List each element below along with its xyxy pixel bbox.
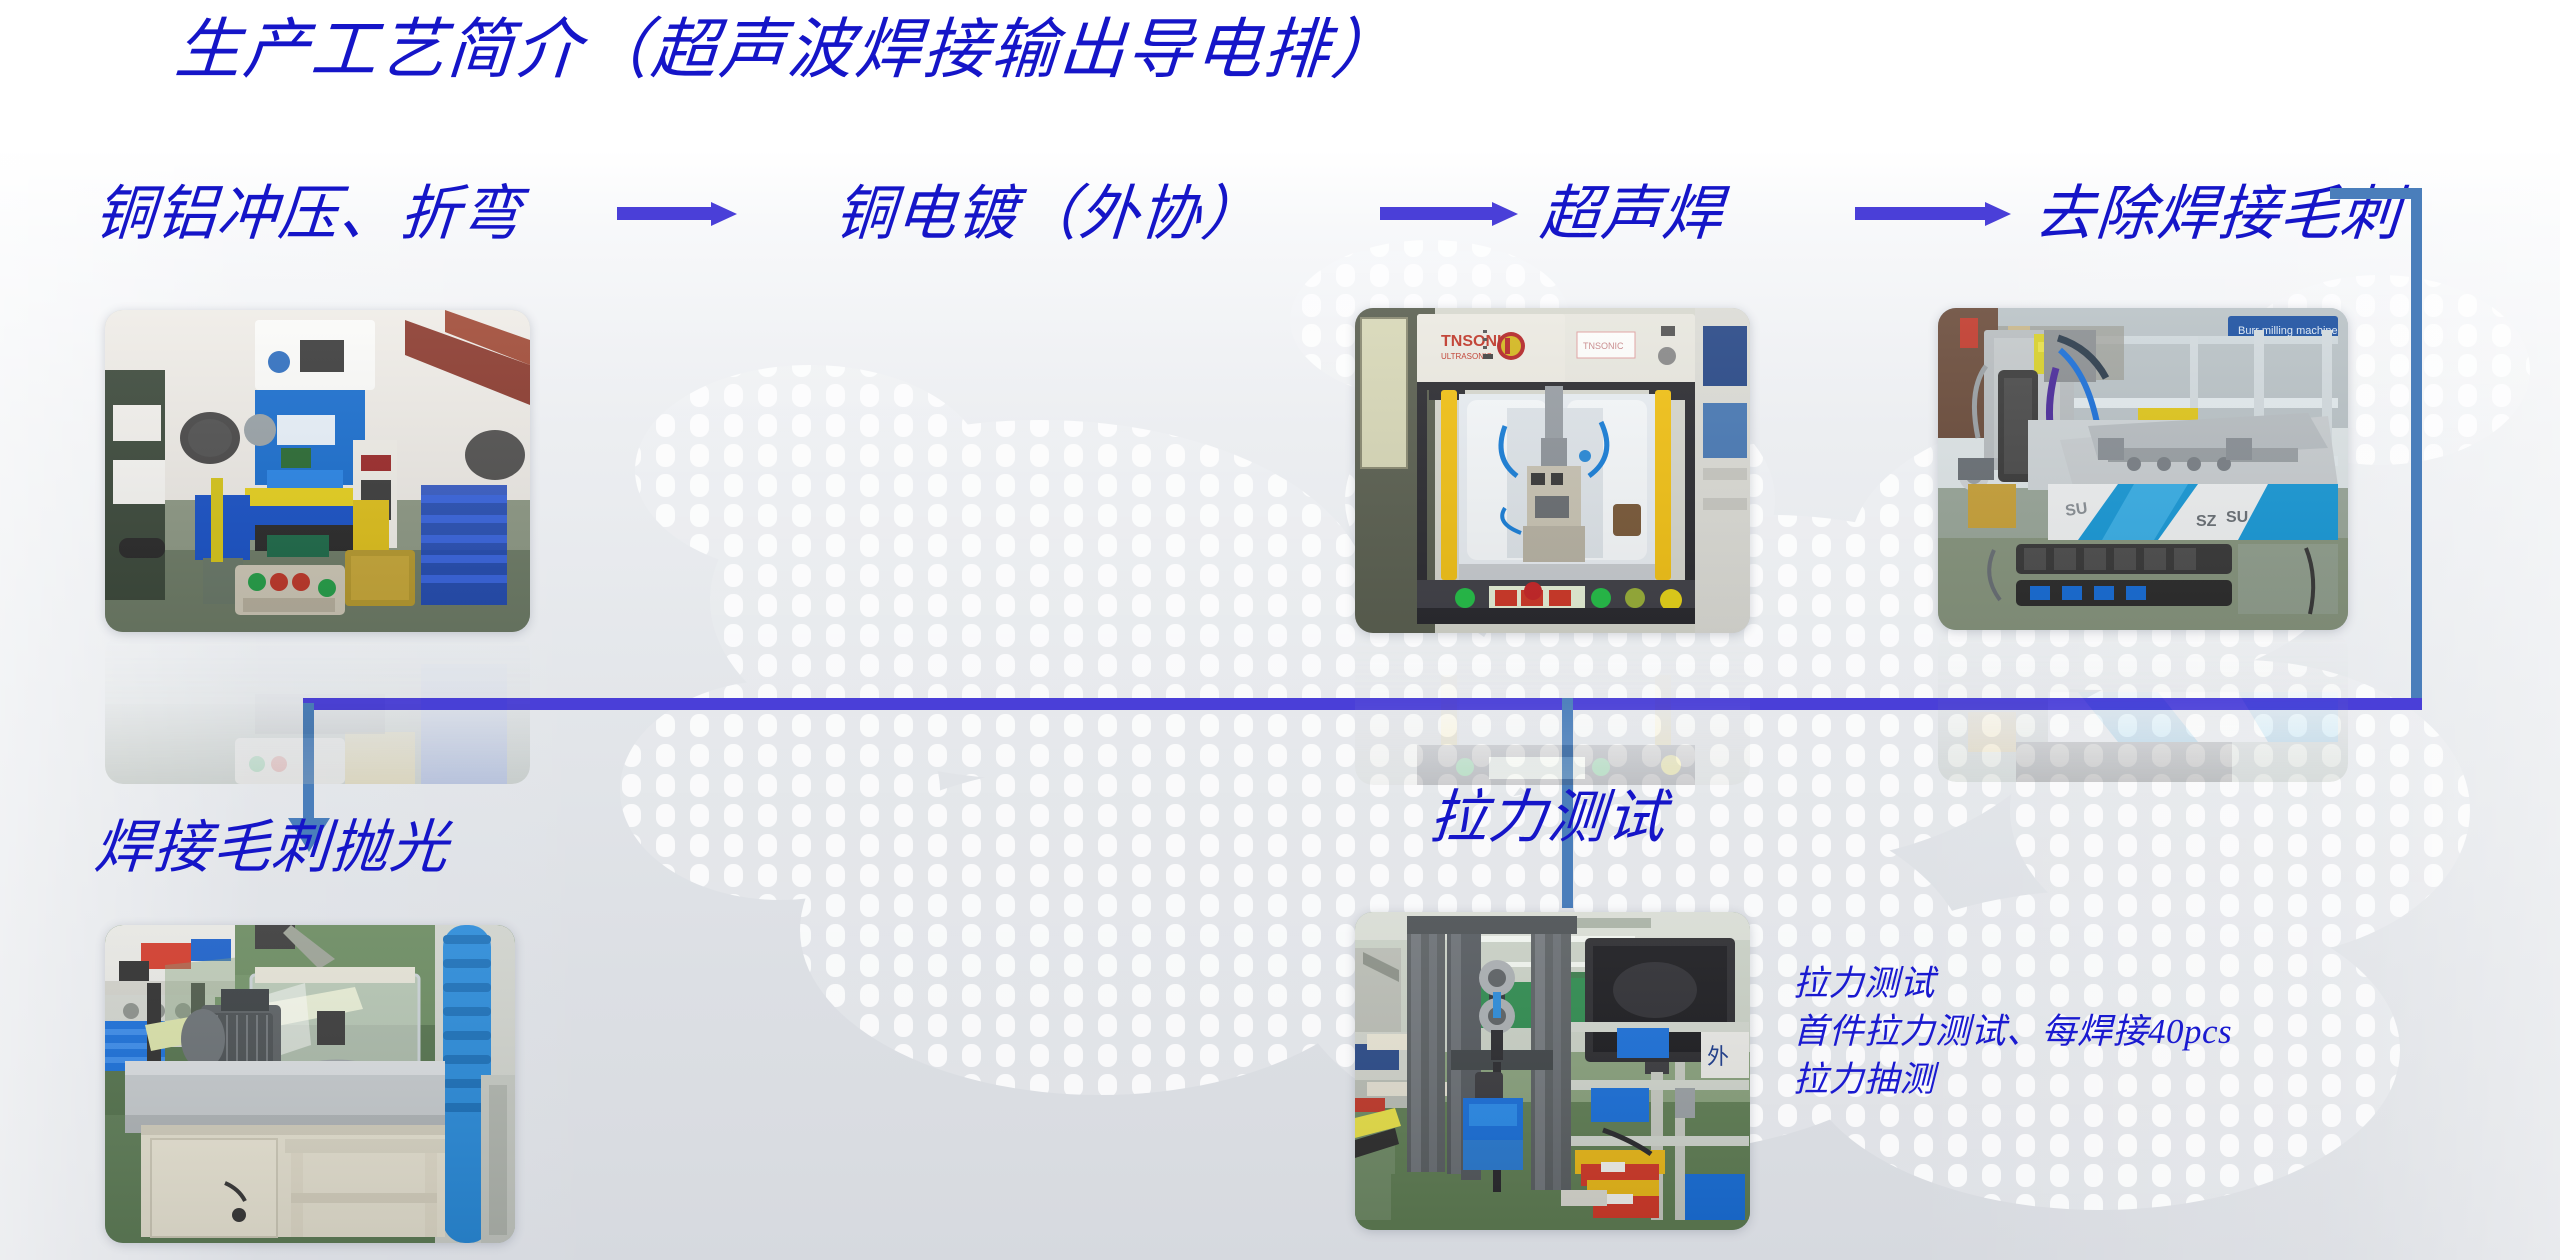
- connector-right-vertical: [2411, 188, 2422, 710]
- process-flow-row: 铜铝冲压、折弯 铜电镀（外协） 超声焊 去除焊接毛刺: [95, 162, 2495, 266]
- tensile-tester-photo: 外: [1355, 912, 1750, 1230]
- arrow-right-icon-welding-to-deburring: [1855, 202, 2015, 224]
- slide-canvas: 生产工艺简介（超声波焊接输出导电排） 铜铝冲压、折弯 铜电镀（外协） 超声焊 去…: [0, 0, 2560, 1260]
- desc-line-1: 拉力测试: [1793, 960, 2232, 1008]
- connector-main-horizontal: [303, 698, 2422, 710]
- arrow-head: [1492, 202, 1518, 226]
- arrow-head: [711, 202, 737, 226]
- arrow-shaft: [1855, 207, 1987, 220]
- desc-line-3: 拉力抽测: [1793, 1056, 2232, 1104]
- flow-step-ultrasonic-welding: 超声焊: [1536, 162, 1726, 266]
- connector-top-horizontal: [2330, 188, 2422, 199]
- section-label-tensile-test: 拉力测试: [1427, 770, 1669, 854]
- deburring-machine-photo: Burr milling machine: [1938, 308, 2348, 630]
- arrow-shaft: [1380, 207, 1494, 220]
- polishing-bench-photo: [105, 925, 515, 1243]
- page-title: 生产工艺简介（超声波焊接输出导电排）: [172, 14, 1401, 88]
- flow-step-plating: 铜电镀（外协）: [831, 162, 1265, 266]
- arrow-right-icon-stamping-to-plating: [617, 202, 737, 224]
- tensile-test-description: 拉力测试 首件拉力测试、每焊接40pcs 拉力抽测: [1793, 960, 2232, 1104]
- desc-line-2: 首件拉力测试、每焊接40pcs: [1793, 1008, 2232, 1056]
- arrow-head: [1985, 202, 2011, 226]
- flow-step-stamping: 铜铝冲压、折弯: [91, 162, 525, 266]
- section-label-polishing: 焊接毛刺抛光: [92, 800, 452, 884]
- flow-step-deburring: 去除焊接毛刺: [2031, 162, 2404, 266]
- arrow-right-icon-plating-to-welding: [1380, 202, 1520, 224]
- arrow-shaft: [617, 207, 713, 220]
- ultrasonic-welder-photo: TNSONIC ULTRASONIC TNSONIC: [1355, 308, 1750, 633]
- ultrasonic-welder-photo-reflection: [1355, 635, 1750, 785]
- stamping-press-photo: [105, 310, 530, 632]
